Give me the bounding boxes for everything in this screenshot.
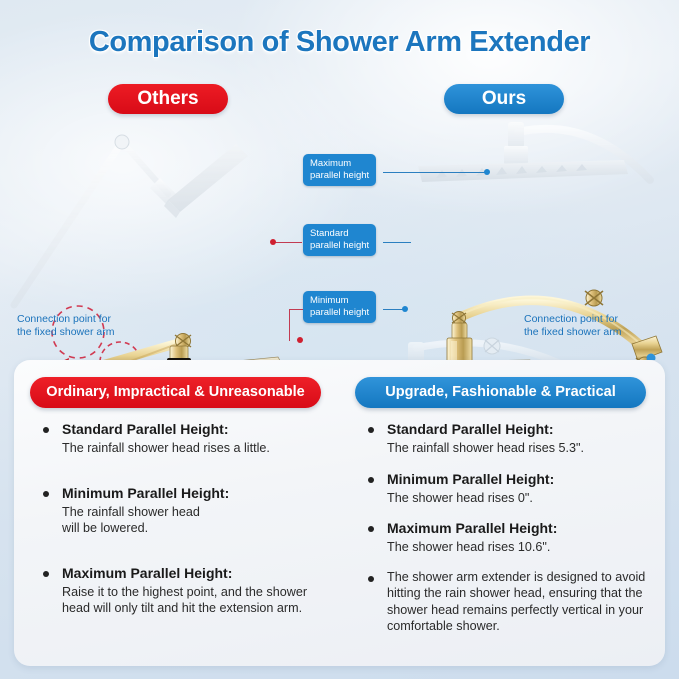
caption-right-line1: Connection point for: [524, 313, 621, 326]
callout-minimum-line2: parallel height: [310, 307, 369, 319]
bullet-heading: Standard Parallel Height:: [62, 420, 336, 438]
bullet-body: The rainfall shower head will be lowered…: [62, 504, 336, 537]
callout-minimum-parallel-height: Minimum parallel height: [303, 291, 376, 323]
left-ghost-maximum: [14, 135, 248, 305]
bullet-body: The rainfall shower head rises 5.3".: [387, 440, 661, 457]
caption-right-line2: the fixed shower arm: [524, 326, 621, 339]
badge-ours: Ours: [444, 84, 564, 114]
comparison-panel: Ordinary, Impractical & Unreasonable Upg…: [14, 360, 665, 666]
connector-dot-minimum-left: [297, 337, 303, 343]
connector-line-standard-left: [274, 242, 302, 243]
callout-standard-line1: Standard: [310, 228, 349, 239]
bullet-body: Raise it to the highest point, and the s…: [62, 584, 336, 617]
badge-ordinary-impractical: Ordinary, Impractical & Unreasonable: [30, 377, 321, 408]
left-bullet-column: Standard Parallel Height: The rainfall s…: [36, 420, 336, 633]
bullet-heading: Maximum Parallel Height:: [387, 519, 661, 537]
caption-left-line2: the fixed shower arm: [17, 326, 114, 339]
bullet-heading: Standard Parallel Height:: [387, 420, 661, 438]
infographic-page: Comparison of Shower Arm Extender Others…: [0, 0, 679, 679]
bullet-heading: Minimum Parallel Height:: [387, 470, 661, 488]
caption-connection-point-right: Connection point for the fixed shower ar…: [524, 313, 621, 339]
list-item: Standard Parallel Height: The rainfall s…: [36, 420, 336, 457]
caption-connection-point-left: Connection point for the fixed shower ar…: [17, 313, 114, 339]
bullet-heading: Minimum Parallel Height:: [62, 484, 336, 502]
page-title: Comparison of Shower Arm Extender: [0, 26, 679, 59]
bullet-body: The shower head rises 10.6".: [387, 539, 661, 556]
bullet-body: The rainfall shower head rises a little.: [62, 440, 336, 457]
list-item: Minimum Parallel Height: The shower head…: [361, 470, 661, 507]
callout-maximum-line2: parallel height: [310, 170, 369, 182]
connector-dot-standard-left: [270, 239, 276, 245]
list-item: Minimum Parallel Height: The rainfall sh…: [36, 484, 336, 537]
badge-upgrade-practical: Upgrade, Fashionable & Practical: [355, 377, 646, 408]
list-item: The shower arm extender is designed to a…: [361, 569, 661, 635]
callout-standard-parallel-height: Standard parallel height: [303, 224, 376, 256]
connector-line-minimum-left: [289, 309, 304, 310]
right-ghost-maximum: [418, 122, 650, 182]
bullet-heading: Maximum Parallel Height:: [62, 564, 336, 582]
badge-others: Others: [108, 84, 228, 114]
list-item: Standard Parallel Height: The rainfall s…: [361, 420, 661, 457]
right-bullet-column: Standard Parallel Height: The rainfall s…: [361, 420, 661, 651]
connector-dot-maximum: [484, 169, 490, 175]
list-item: Maximum Parallel Height: The shower head…: [361, 519, 661, 556]
callout-standard-line2: parallel height: [310, 240, 369, 252]
caption-left-line1: Connection point for: [17, 313, 114, 326]
connector-line-maximum: [383, 172, 489, 173]
bullet-body: The shower arm extender is designed to a…: [387, 569, 661, 635]
list-item: Maximum Parallel Height: Raise it to the…: [36, 564, 336, 617]
connector-line-standard-right: [383, 242, 411, 243]
right-ghost-minimum: [342, 338, 650, 360]
bullet-body: The shower head rises 0".: [387, 490, 661, 507]
connector-dot-minimum: [402, 306, 408, 312]
connector-elbow-minimum: [289, 309, 290, 341]
callout-minimum-line1: Minimum: [310, 295, 349, 306]
callout-maximum-line1: Maximum: [310, 158, 351, 169]
callout-maximum-parallel-height: Maximum parallel height: [303, 154, 376, 186]
